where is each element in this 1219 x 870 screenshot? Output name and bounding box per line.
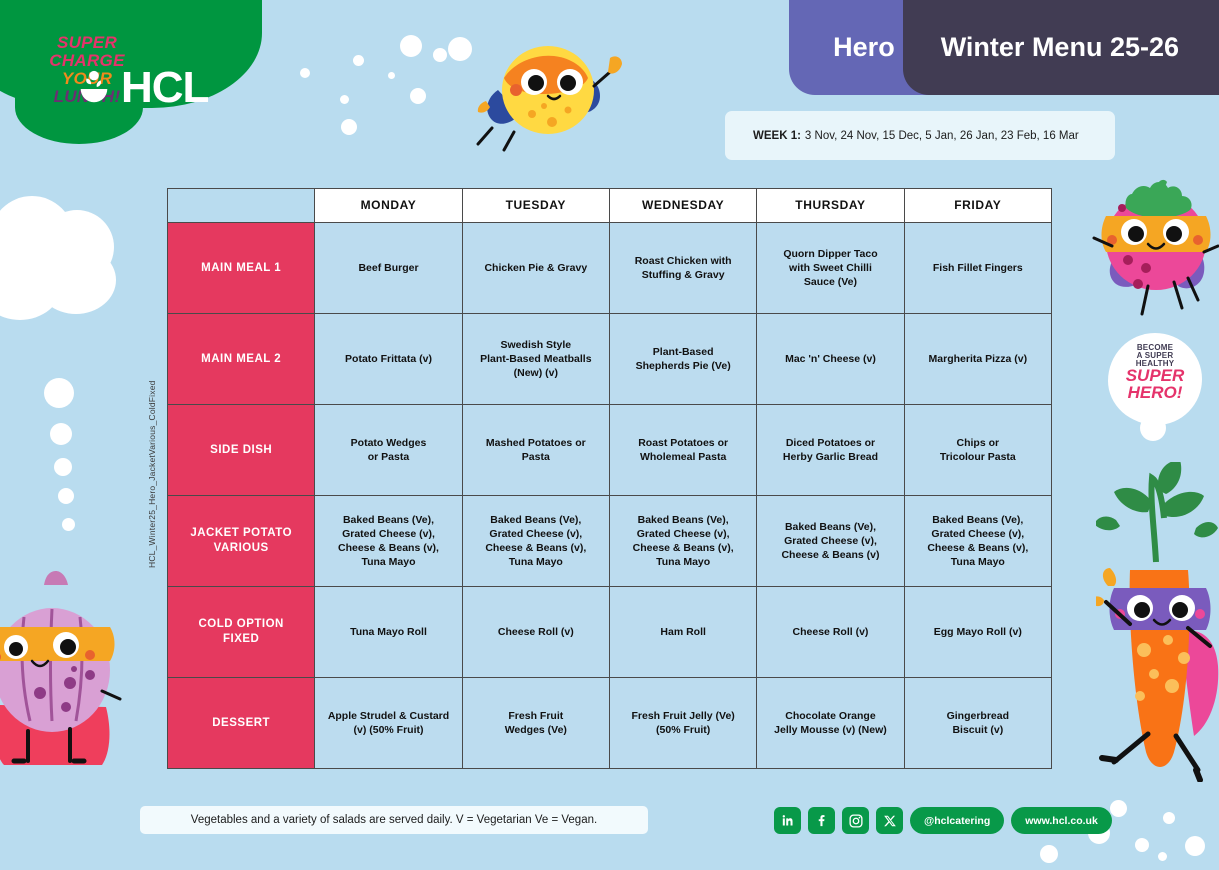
hcl-logo: HCL <box>75 66 208 110</box>
table-row: COLD OPTIONFIXED Tuna Mayo Roll Cheese R… <box>168 587 1052 678</box>
menu-table-wrapper: MONDAY TUESDAY WEDNESDAY THURSDAY FRIDAY… <box>167 188 1052 769</box>
social-links: @hclcatering www.hcl.co.uk <box>774 807 1112 834</box>
menu-cell: Mashed Potatoes orPasta <box>462 405 609 496</box>
decor-bubble <box>300 68 310 78</box>
decor-bubble <box>433 48 447 62</box>
header-title-bar: Hero Winter Menu 25-26 <box>789 0 1219 95</box>
linkedin-icon[interactable] <box>774 807 801 834</box>
table-row: MAIN MEAL 1 Beef Burger Chicken Pie & Gr… <box>168 223 1052 314</box>
onion-superhero-mascot <box>0 565 134 785</box>
website-pill[interactable]: www.hcl.co.uk <box>1011 807 1112 834</box>
weekly-menu-table: MONDAY TUESDAY WEDNESDAY THURSDAY FRIDAY… <box>167 188 1052 769</box>
menu-cell: Potato Frittata (v) <box>315 314 462 405</box>
week-info-bar: WEEK 1: 3 Nov, 24 Nov, 15 Dec, 5 Jan, 26… <box>725 111 1115 160</box>
week-dates: 3 Nov, 24 Nov, 15 Dec, 5 Jan, 26 Jan, 23… <box>805 130 1079 142</box>
table-corner-cell <box>168 189 315 223</box>
table-row: SIDE DISH Potato Wedgesor Pasta Mashed P… <box>168 405 1052 496</box>
menu-cell: Fresh FruitWedges (Ve) <box>462 678 609 769</box>
decor-bubble <box>1158 852 1167 861</box>
menu-cell: Egg Mayo Roll (v) <box>904 587 1051 678</box>
decor-bubble <box>1135 838 1149 852</box>
row-label-side-dish: SIDE DISH <box>168 405 315 496</box>
decor-bubble <box>410 88 426 104</box>
callout-line-1: SUPER <box>57 33 117 52</box>
decor-bubble <box>1163 812 1175 824</box>
page-title: Winter Menu 25-26 <box>903 0 1219 95</box>
table-row: DESSERT Apple Strudel & Custard(v) (50% … <box>168 678 1052 769</box>
plant-in-bowl-icon <box>75 69 113 107</box>
decor-bubble <box>353 55 364 66</box>
artwork-reference-code: HCL_Winter25_Hero_JacketVarious_ColdFixe… <box>147 380 157 568</box>
menu-cell: GingerbreadBiscuit (v) <box>904 678 1051 769</box>
decor-bubble <box>400 35 422 57</box>
menu-cell: Swedish StylePlant-Based Meatballs(New) … <box>462 314 609 405</box>
menu-cell: Beef Burger <box>315 223 462 314</box>
column-header-thursday: THURSDAY <box>757 189 904 223</box>
menu-cell: Roast Chicken withStuffing & Gravy <box>609 223 756 314</box>
decor-bubble <box>1040 845 1058 863</box>
logo-text: HCL <box>121 66 208 110</box>
menu-cell: Cheese Roll (v) <box>757 587 904 678</box>
menu-cell: Plant-BasedShepherds Pie (Ve) <box>609 314 756 405</box>
decor-bubble <box>340 95 349 104</box>
menu-cell: Roast Potatoes orWholemeal Pasta <box>609 405 756 496</box>
table-header-row: MONDAY TUESDAY WEDNESDAY THURSDAY FRIDAY <box>168 189 1052 223</box>
row-label-jacket-potato: JACKET POTATOVARIOUS <box>168 496 315 587</box>
menu-cell: Apple Strudel & Custard(v) (50% Fruit) <box>315 678 462 769</box>
lemon-superhero-mascot <box>468 28 633 153</box>
column-header-friday: FRIDAY <box>904 189 1051 223</box>
supercharge-callout-cloud <box>0 196 132 326</box>
menu-cell: Cheese Roll (v) <box>462 587 609 678</box>
menu-cell: Baked Beans (Ve),Grated Cheese (v),Chees… <box>757 496 904 587</box>
x-twitter-icon[interactable] <box>876 807 903 834</box>
decor-bubble <box>1185 836 1205 856</box>
menu-cell: Baked Beans (Ve),Grated Cheese (v),Chees… <box>315 496 462 587</box>
carrot-superhero-mascot <box>1096 462 1219 782</box>
menu-cell: Baked Beans (Ve),Grated Cheese (v),Chees… <box>609 496 756 587</box>
menu-cell: Potato Wedgesor Pasta <box>315 405 462 496</box>
column-header-wednesday: WEDNESDAY <box>609 189 756 223</box>
menu-cell: Mac 'n' Cheese (v) <box>757 314 904 405</box>
menu-cell: Chicken Pie & Gravy <box>462 223 609 314</box>
row-label-cold-option: COLD OPTIONFIXED <box>168 587 315 678</box>
row-label-dessert: DESSERT <box>168 678 315 769</box>
menu-cell: Margherita Pizza (v) <box>904 314 1051 405</box>
dietary-legend: Vegetables and a variety of salads are s… <box>140 806 648 834</box>
menu-cell: Fish Fillet Fingers <box>904 223 1051 314</box>
menu-cell: Fresh Fruit Jelly (Ve)(50% Fruit) <box>609 678 756 769</box>
week-label: WEEK 1: <box>753 130 801 142</box>
decor-bubble <box>1110 800 1127 817</box>
table-row: MAIN MEAL 2 Potato Frittata (v) Swedish … <box>168 314 1052 405</box>
menu-cell: Baked Beans (Ve),Grated Cheese (v),Chees… <box>462 496 609 587</box>
instagram-handle-pill[interactable]: @hclcatering <box>910 807 1004 834</box>
row-label-main-meal-2: MAIN MEAL 2 <box>168 314 315 405</box>
instagram-icon[interactable] <box>842 807 869 834</box>
row-label-main-meal-1: MAIN MEAL 1 <box>168 223 315 314</box>
menu-cell: Chips orTricolour Pasta <box>904 405 1051 496</box>
column-header-tuesday: TUESDAY <box>462 189 609 223</box>
menu-cell: Baked Beans (Ve),Grated Cheese (v),Chees… <box>904 496 1051 587</box>
strawberry-superhero-mascot <box>1092 172 1219 322</box>
menu-cell: Quorn Dipper Tacowith Sweet ChilliSauce … <box>757 223 904 314</box>
callout-line-5: HERO! <box>1112 385 1198 402</box>
menu-cell: Ham Roll <box>609 587 756 678</box>
facebook-icon[interactable] <box>808 807 835 834</box>
superhero-callout-text: BECOME A SUPER HEALTHY SUPER HERO! <box>1112 344 1198 401</box>
menu-cell: Tuna Mayo Roll <box>315 587 462 678</box>
column-header-monday: MONDAY <box>315 189 462 223</box>
decor-bubble <box>341 119 357 135</box>
decor-bubble <box>388 72 395 79</box>
table-row: JACKET POTATOVARIOUS Baked Beans (Ve),Gr… <box>168 496 1052 587</box>
menu-cell: Diced Potatoes orHerby Garlic Bread <box>757 405 904 496</box>
menu-cell: Chocolate OrangeJelly Mousse (v) (New) <box>757 678 904 769</box>
